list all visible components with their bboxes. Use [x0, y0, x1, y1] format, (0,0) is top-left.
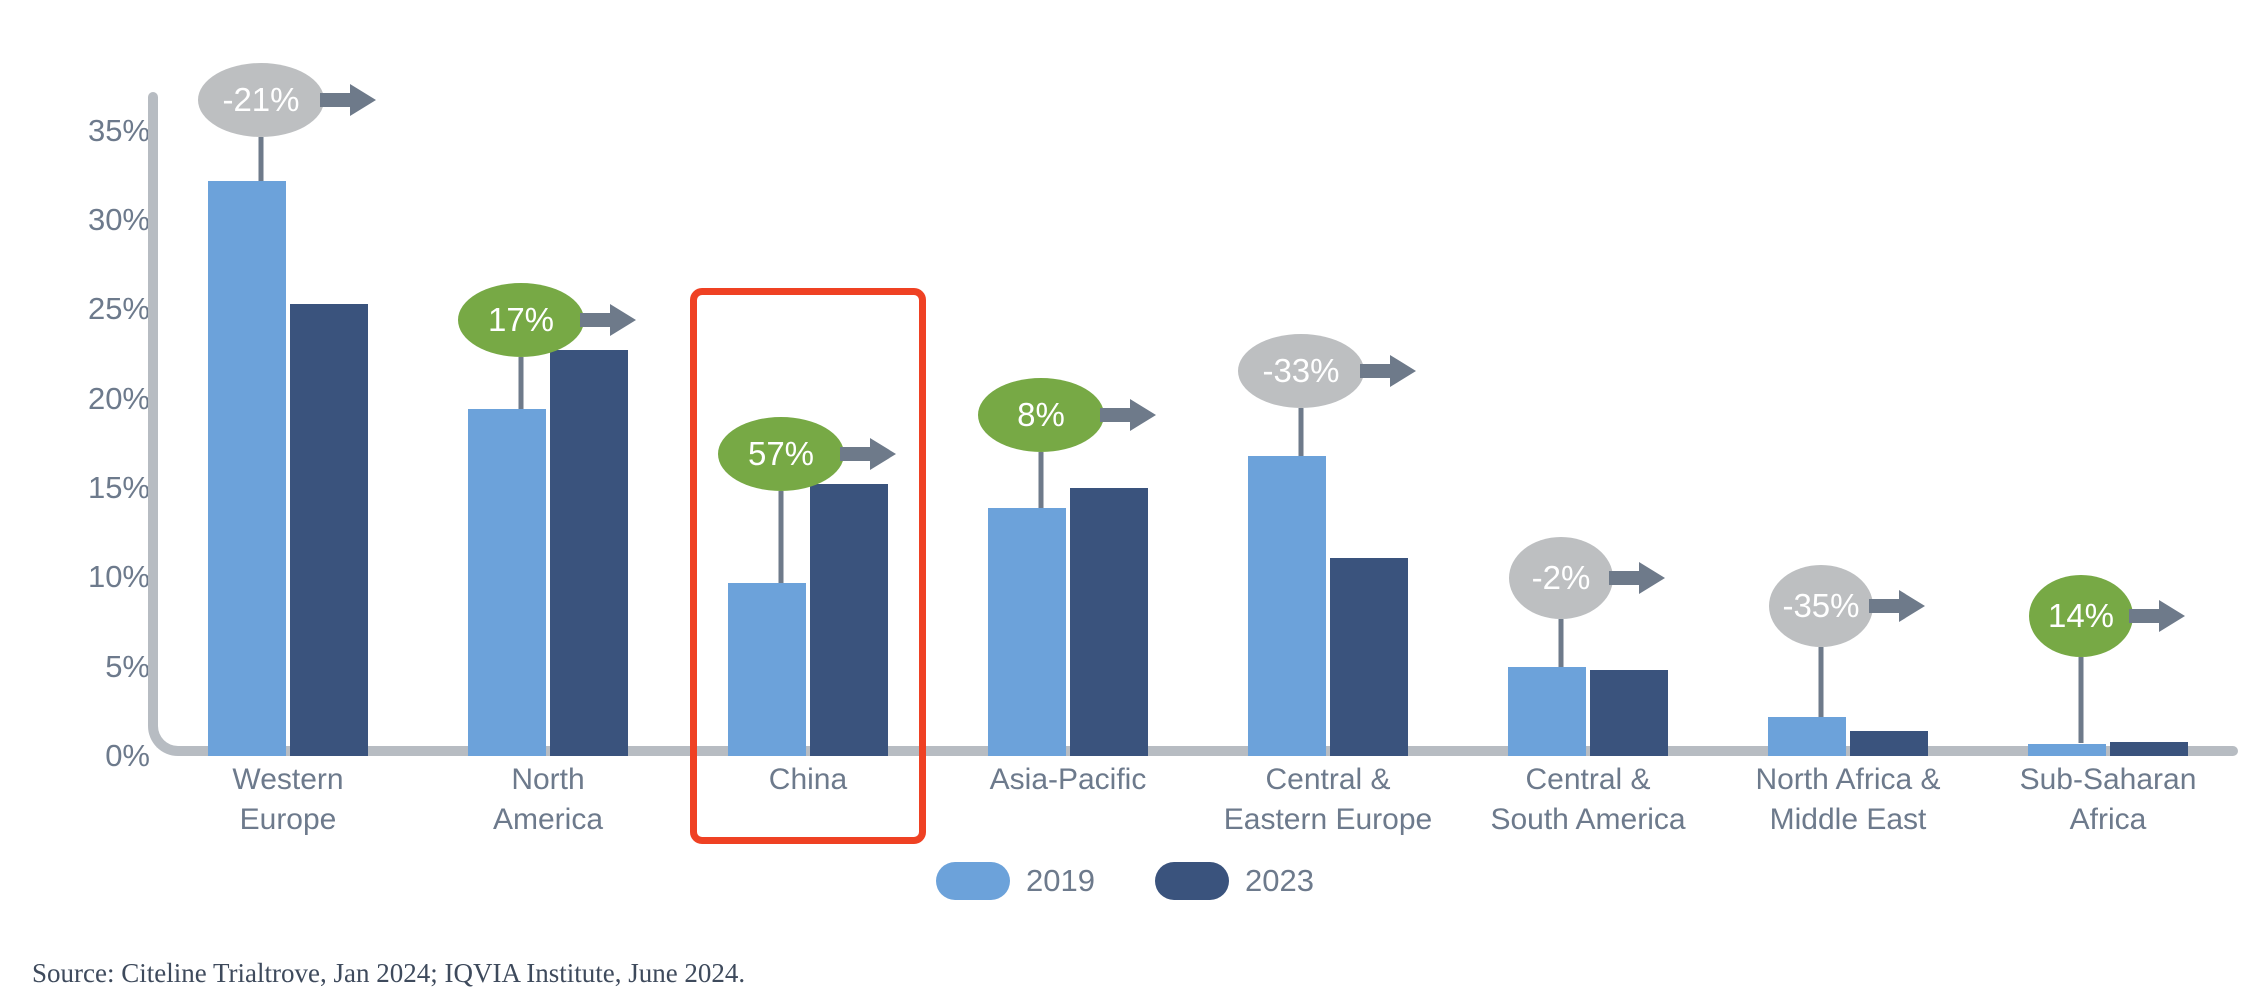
bar-2023[interactable] [550, 350, 628, 756]
growth-callout-stem [1819, 647, 1824, 717]
plot-area: -21%17%57%8%-33%-2%-35%14% [158, 95, 2238, 756]
category-label-line: Central & [1458, 760, 1718, 800]
growth-arrow-icon [320, 82, 378, 118]
bar-2019[interactable] [1768, 717, 1846, 756]
x-axis-category-labels: WesternEuropeNorthAmericaChinaAsia-Pacif… [158, 760, 2238, 850]
growth-callout-stem [779, 491, 784, 583]
category-label-line: South America [1458, 800, 1718, 840]
bar-group: -33% [1198, 95, 1458, 756]
growth-callout-bubble: -35% [1769, 565, 1873, 647]
y-axis-line [148, 92, 158, 722]
growth-callout-bubble: 14% [2029, 575, 2133, 657]
growth-arrow-icon [2129, 598, 2187, 634]
bar-group: 8% [938, 95, 1198, 756]
category-label-china: China [678, 760, 938, 800]
chart-root: Relative total country-uses 35%30%25%20%… [0, 0, 2250, 1004]
bar-2019[interactable] [728, 583, 806, 756]
legend-label-2023: 2023 [1245, 863, 1314, 899]
legend-item-2023[interactable]: 2023 [1155, 862, 1314, 900]
category-label-line: North Africa & [1718, 760, 1978, 800]
growth-arrow-icon [1869, 588, 1927, 624]
y-tick-15: 15% [40, 470, 150, 506]
growth-callout-bubble: -33% [1238, 334, 1364, 408]
category-label-line: North [418, 760, 678, 800]
growth-callout-stem [1299, 408, 1304, 456]
growth-callout-stem [1039, 452, 1044, 508]
y-tick-35: 35% [40, 113, 150, 149]
growth-arrow-icon [580, 302, 638, 338]
bar-2023[interactable] [1590, 670, 1668, 756]
category-label-line: Africa [1978, 800, 2238, 840]
chart-legend: 2019 2023 [0, 862, 2250, 900]
category-label-line: Western [158, 760, 418, 800]
bar-2019[interactable] [1248, 456, 1326, 756]
y-tick-0: 0% [40, 738, 150, 774]
source-note: Source: Citeline Trialtrove, Jan 2024; I… [32, 958, 745, 989]
growth-callout-bubble: -21% [198, 63, 324, 137]
bar-2023[interactable] [810, 484, 888, 756]
y-tick-5: 5% [40, 649, 150, 685]
legend-label-2019: 2019 [1026, 863, 1095, 899]
bar-2023[interactable] [1070, 488, 1148, 756]
category-label-line: Sub-Saharan [1978, 760, 2238, 800]
growth-arrow-icon [1609, 560, 1667, 596]
growth-callout-stem [1559, 619, 1564, 667]
category-label-north-america: NorthAmerica [418, 760, 678, 840]
y-tick-10: 10% [40, 559, 150, 595]
growth-callout-bubble: -2% [1509, 537, 1613, 619]
growth-callout-stem [259, 137, 264, 181]
bar-2023[interactable] [2110, 742, 2188, 756]
growth-callout-bubble: 57% [718, 417, 844, 491]
category-label-line: China [678, 760, 938, 800]
bar-group: -2% [1458, 95, 1718, 756]
category-label-western-europe: WesternEurope [158, 760, 418, 840]
growth-callout-bubble: 8% [978, 378, 1104, 452]
y-tick-25: 25% [40, 291, 150, 327]
category-label-line: Asia-Pacific [938, 760, 1198, 800]
category-label-line: Eastern Europe [1198, 800, 1458, 840]
y-tick-30: 30% [40, 202, 150, 238]
bar-group: 14% [1978, 95, 2238, 756]
category-label-north-africa-middle-east: North Africa &Middle East [1718, 760, 1978, 840]
category-label-asia-pacific: Asia-Pacific [938, 760, 1198, 800]
bar-2019[interactable] [2028, 744, 2106, 757]
growth-arrow-icon [1360, 353, 1418, 389]
category-label-central-eastern-europe: Central &Eastern Europe [1198, 760, 1458, 840]
bar-group: -35% [1718, 95, 1978, 756]
bar-2019[interactable] [1508, 667, 1586, 756]
legend-swatch-2023 [1155, 862, 1229, 900]
bar-group: 57% [678, 95, 938, 756]
growth-callout-bubble: 17% [458, 283, 584, 357]
growth-callout-stem [519, 357, 524, 409]
bar-2023[interactable] [290, 304, 368, 756]
category-label-line: Central & [1198, 760, 1458, 800]
y-tick-20: 20% [40, 381, 150, 417]
legend-swatch-2019 [936, 862, 1010, 900]
bar-2019[interactable] [208, 181, 286, 756]
category-label-line: America [418, 800, 678, 840]
bar-group: 17% [418, 95, 678, 756]
bar-2023[interactable] [1330, 558, 1408, 756]
category-label-line: Europe [158, 800, 418, 840]
bar-2019[interactable] [988, 508, 1066, 756]
growth-arrow-icon [1100, 397, 1158, 433]
growth-callout-stem [2079, 657, 2084, 743]
category-label-line: Middle East [1718, 800, 1978, 840]
bar-2019[interactable] [468, 409, 546, 756]
category-label-central-south-america: Central &South America [1458, 760, 1718, 840]
legend-item-2019[interactable]: 2019 [936, 862, 1095, 900]
bar-2023[interactable] [1850, 731, 1928, 756]
y-axis-tick-labels: 35%30%25%20%15%10%5%0% [40, 0, 150, 1004]
bar-group: -21% [158, 95, 418, 756]
category-label-sub-saharan-africa: Sub-SaharanAfrica [1978, 760, 2238, 840]
growth-arrow-icon [840, 436, 898, 472]
